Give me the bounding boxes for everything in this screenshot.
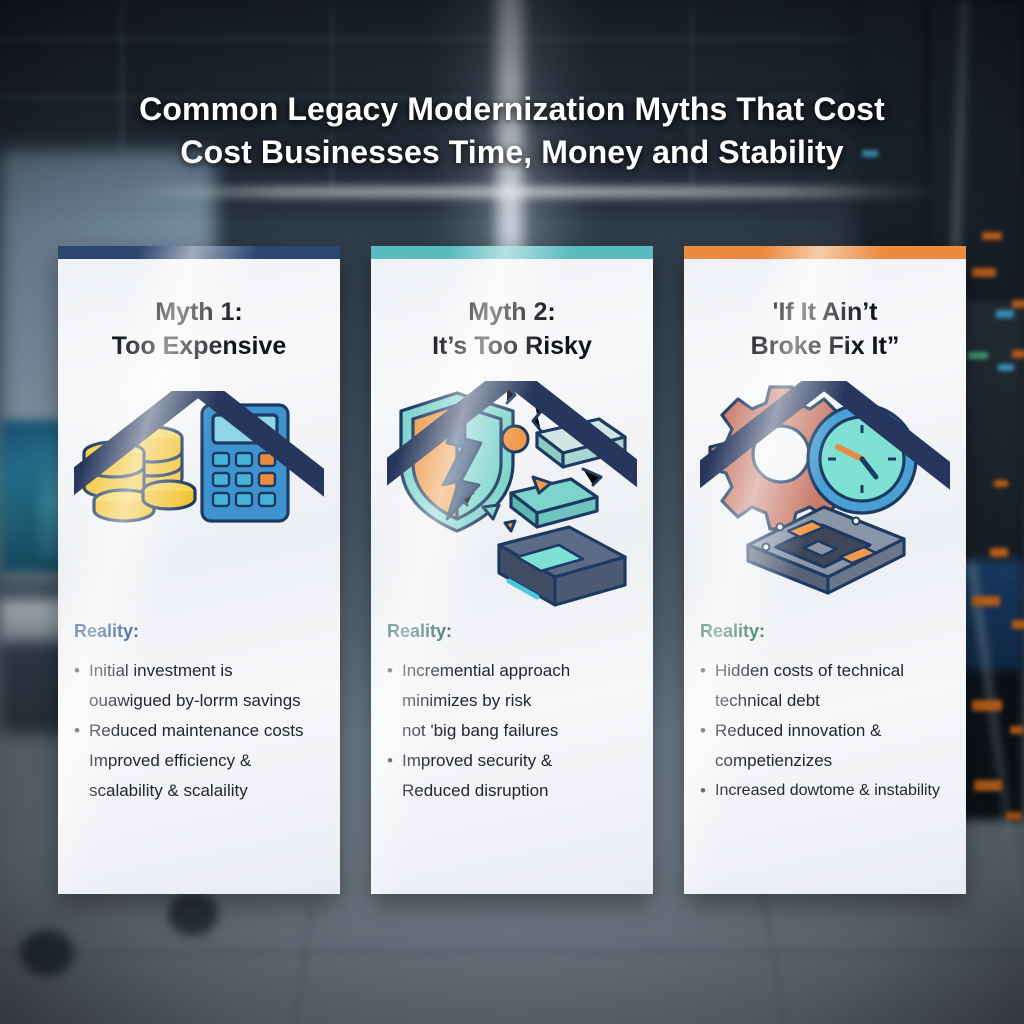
- list-item: scalability & scalaility: [74, 776, 322, 806]
- coins-and-calculator-illustration: [58, 371, 340, 621]
- list-item: Hidden costs of technical: [700, 656, 948, 686]
- list-item: Improved security &: [387, 746, 635, 776]
- list-item: Increased dowtome & instability: [700, 776, 948, 806]
- myth-card-1[interactable]: Myth 1: Too Expensive: [58, 246, 340, 894]
- list-item: Reduced maintenance costs: [74, 716, 322, 746]
- shield-and-servers-illustration: [371, 371, 653, 621]
- server-blade-middle: [511, 479, 597, 527]
- card-heading-line-2: Broke Fix It”: [698, 329, 952, 363]
- myth-cards-row: Myth 1: Too Expensive: [58, 246, 966, 894]
- clock-icon: [808, 405, 916, 513]
- card-heading: 'If It Ain’t Broke Fix It”: [684, 295, 966, 363]
- reality-points-list: Initial investment is ouawigued by-lorrm…: [74, 656, 322, 806]
- card-heading: Myth 1: Too Expensive: [58, 295, 340, 363]
- gear-clock-circuit-illustration: [684, 371, 966, 621]
- reality-points-list: Hidden costs of technical technical debt…: [700, 656, 948, 806]
- reality-label: Reality:: [74, 621, 322, 642]
- list-item: competienzizes: [700, 746, 948, 776]
- list-item: Reduced disruption: [387, 776, 635, 806]
- card-heading-line-1: Myth 1:: [72, 295, 326, 329]
- card-accent-bar: [684, 246, 966, 259]
- reality-points-list: Incremential approach minimizes by risk …: [387, 656, 635, 806]
- card-body: Reality: Incremential approach minimizes…: [371, 621, 653, 894]
- page-title-line-2: Cost Businesses Time, Money and Stabilit…: [0, 131, 1024, 174]
- list-item: technical debt: [700, 686, 948, 716]
- list-item: Reduced innovation &: [700, 716, 948, 746]
- page-title: Common Legacy Modernization Myths That C…: [0, 88, 1024, 174]
- list-item: ouawigued by-lorrm savings: [74, 686, 322, 716]
- reality-label: Reality:: [387, 621, 635, 642]
- reality-label: Reality:: [700, 621, 948, 642]
- list-item: Improved efficiency &: [74, 746, 322, 776]
- myth-card-2[interactable]: Myth 2: It’s Too Risky: [371, 246, 653, 894]
- card-heading-line-1: Myth 2:: [385, 295, 639, 329]
- card-heading-line-2: Too Expensive: [72, 329, 326, 363]
- list-item: Incremential approach: [387, 656, 635, 686]
- list-item: not 'big bang failures: [387, 716, 635, 746]
- card-accent-bar: [58, 246, 340, 259]
- card-heading-line-2: It’s Too Risky: [385, 329, 639, 363]
- page-title-line-1: Common Legacy Modernization Myths That C…: [0, 88, 1024, 131]
- server-box: [499, 527, 625, 605]
- coin-loose: [143, 481, 195, 509]
- list-item: Initial investment is: [74, 656, 322, 686]
- card-accent-bar: [371, 246, 653, 259]
- card-heading-line-1: 'If It Ain’t: [698, 295, 952, 329]
- card-heading: Myth 2: It’s Too Risky: [371, 295, 653, 363]
- infographic-canvas: Common Legacy Modernization Myths That C…: [0, 0, 1024, 1024]
- myth-card-3[interactable]: 'If It Ain’t Broke Fix It”: [684, 246, 966, 894]
- card-body: Reality: Initial investment is ouawigued…: [58, 621, 340, 894]
- card-body: Reality: Hidden costs of technical techn…: [684, 621, 966, 894]
- list-item: minimizes by risk: [387, 686, 635, 716]
